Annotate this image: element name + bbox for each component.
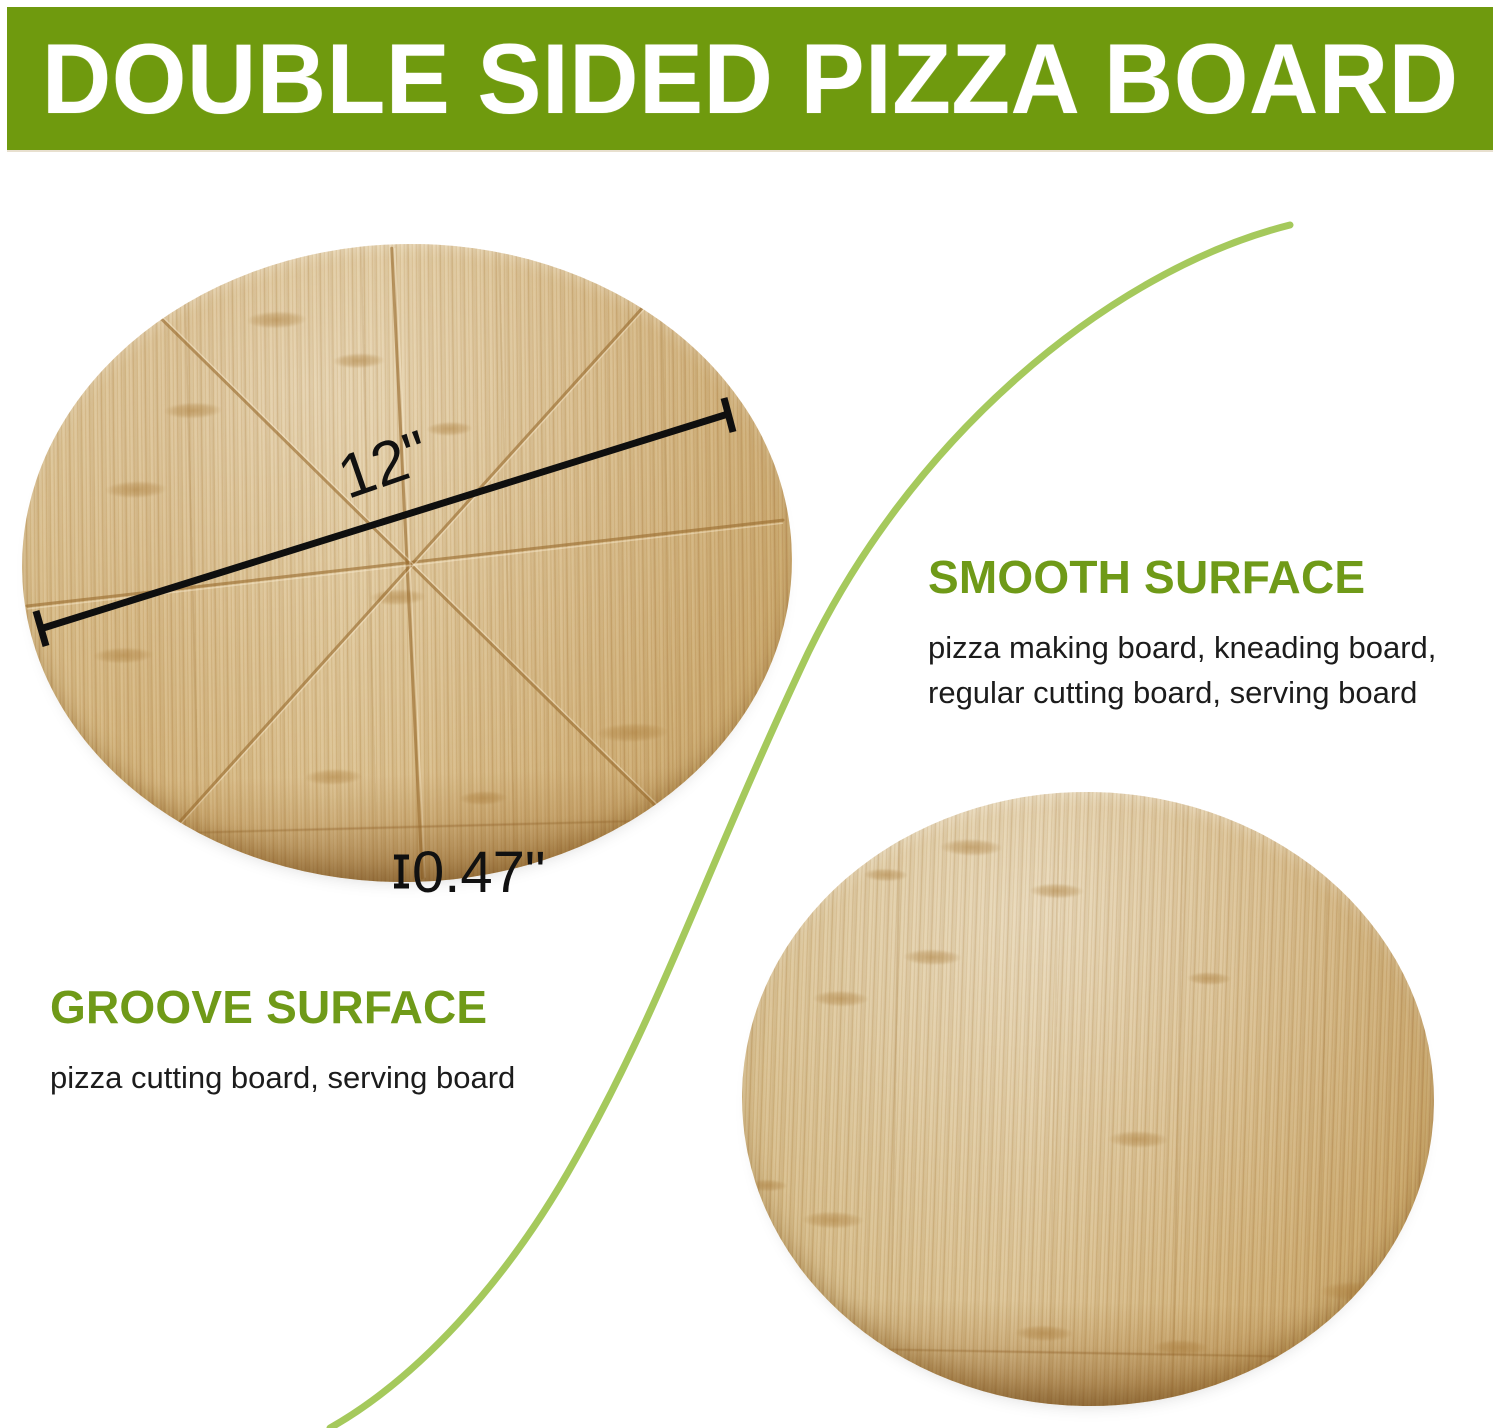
feature-groove-surface: GROOVE SURFACE pizza cutting board, serv… (50, 982, 650, 1100)
product-infographic: DOUBLE SIDED PIZZA BOARD (0, 0, 1500, 1428)
feature-groove-title: GROOVE SURFACE (50, 982, 650, 1033)
feature-smooth-title: SMOOTH SURFACE (928, 552, 1488, 603)
feature-smooth-surface: SMOOTH SURFACE pizza making board, knead… (928, 552, 1488, 716)
feature-groove-body: pizza cutting board, serving board (50, 1055, 650, 1101)
bamboo-node-mark (903, 948, 961, 965)
smooth-board-photo (737, 786, 1440, 1412)
grooved-board-photo (14, 234, 800, 892)
feature-smooth-body: pizza making board, kneading board, regu… (928, 625, 1476, 717)
